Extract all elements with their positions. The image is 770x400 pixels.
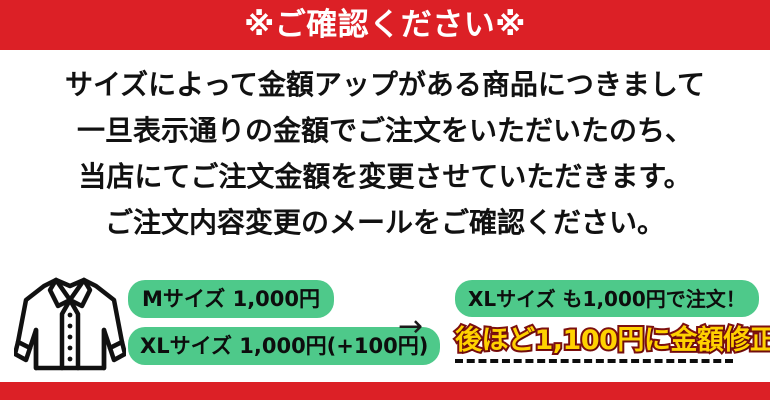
notice-line-2: 一旦表示通りの金額でご注文をいただいたのち、 [0,108,770,154]
notice-line-4: ご注文内容変更のメールをご確認ください。 [0,200,770,246]
notice-line-3: 当店にてご注文金額を変更させていただきます。 [0,154,770,200]
after-price-group: XLサイズ も1,000円で注文！ 後ほど1,100円に金額修正 [455,280,755,363]
arrow-right-icon: → [398,312,423,342]
notice-banner: ※ご確認ください※ サイズによって金額アップがある商品につきまして 一旦表示通り… [0,0,770,400]
notice-body: サイズによって金額アップがある商品につきまして 一旦表示通りの金額でご注文をいた… [0,62,770,246]
notice-line-1: サイズによって金額アップがある商品につきまして [0,62,770,108]
before-price-group: Mサイズ 1,000円 XLサイズ 1,000円(+100円) [128,280,390,365]
price-badge-xl: XLサイズ 1,000円(+100円) [128,327,440,365]
header-bar: ※ご確認ください※ [0,0,770,50]
price-badge-order: XLサイズ も1,000円で注文！ [455,280,759,317]
price-badge-m: Mサイズ 1,000円 [128,280,334,318]
footer-bar [0,382,770,400]
page-title: ※ご確認ください※ [244,10,526,41]
price-correction-note: 後ほど1,100円に金額修正 [455,327,755,355]
dashed-underline [455,359,733,363]
shirt-icon [14,270,126,380]
price-comparison: Mサイズ 1,000円 XLサイズ 1,000円(+100円) → XLサイズ … [0,268,770,382]
